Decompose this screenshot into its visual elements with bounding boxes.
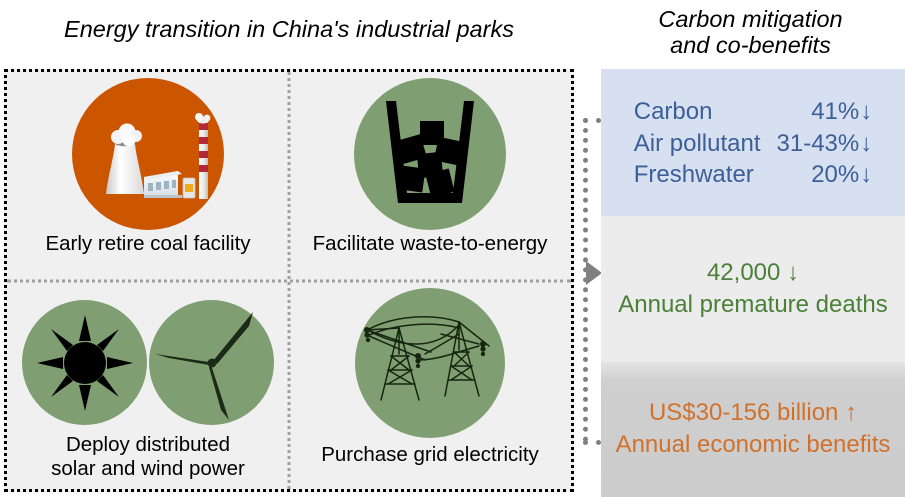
- health-benefit-headline: 42,000 ↓: [707, 258, 799, 289]
- benefit-stat-table: Carbon 41%↓ Air pollutant 31-43%↓ Freshw…: [634, 96, 872, 191]
- stat-row-carbon: Carbon 41%↓: [634, 96, 872, 128]
- stat-label-carbon: Carbon: [634, 96, 777, 128]
- quadrant-early-retire-coal[interactable]: Early retire coal facility: [7, 72, 289, 281]
- coal-power-plant-icon: [72, 78, 224, 230]
- quadrant-waste-to-energy[interactable]: Facilitate waste-to-energy: [289, 72, 571, 281]
- graphical-abstract: Energy transition in China's industrial …: [0, 0, 905, 497]
- economic-benefit-panel: US$30-156 billion ↑ Annual economic bene…: [601, 362, 905, 497]
- stat-label-air-pollutant: Air pollutant: [634, 128, 777, 160]
- health-benefit-panel: 42,000 ↓ Annual premature deaths: [601, 216, 905, 362]
- transmission-tower-icon: [355, 287, 505, 439]
- sun-icon: [22, 300, 147, 425]
- down-arrow-icon-air-pollutant: ↓: [859, 130, 872, 157]
- stat-value-air-pollutant: 31-43%↓: [777, 128, 873, 160]
- stat-label-freshwater: Freshwater: [634, 159, 777, 191]
- solar-wind-icon-group: [22, 287, 274, 439]
- down-arrow-icon-carbon: ↓: [859, 98, 872, 125]
- stat-number-carbon: 41%: [811, 98, 859, 125]
- left-section-title: Energy transition in China's industrial …: [4, 16, 574, 42]
- stat-row-freshwater: Freshwater 20%↓: [634, 159, 872, 191]
- health-benefit-subtitle: Annual premature deaths: [618, 290, 888, 321]
- carbon-mitigation-panel: Carbon 41%↓ Air pollutant 31-43%↓ Freshw…: [601, 69, 905, 216]
- right-section-title: Carbon mitigation and co-benefits: [596, 6, 905, 59]
- waste-bin-icon: [354, 78, 506, 230]
- connector-stub-bottom: [583, 440, 601, 445]
- down-arrow-icon-freshwater: ↓: [859, 161, 872, 188]
- quadrant-label-waste-to-energy: Facilitate waste-to-energy: [313, 232, 548, 256]
- quadrant-solar-wind[interactable]: Deploy distributed solar and wind power: [7, 281, 289, 490]
- connector-arrow-icon: [586, 261, 602, 285]
- stat-value-freshwater: 20%↓: [777, 159, 873, 191]
- economic-benefit-headline: US$30-156 billion ↑: [649, 398, 857, 429]
- stat-value-carbon: 41%↓: [777, 96, 873, 128]
- stat-number-freshwater: 20%: [811, 161, 859, 188]
- quadrant-label-solar-wind: Deploy distributed solar and wind power: [51, 433, 245, 481]
- energy-transition-grid: Early retire coal facility: [4, 69, 574, 492]
- quadrant-label-early-retire-coal: Early retire coal facility: [45, 232, 250, 256]
- wind-turbine-icon: [149, 300, 274, 425]
- quadrant-grid-electricity[interactable]: Purchase grid electricity: [289, 281, 571, 490]
- stat-row-air-pollutant: Air pollutant 31-43%↓: [634, 128, 872, 160]
- economic-benefit-subtitle: Annual economic benefits: [616, 430, 891, 461]
- quadrant-label-grid-electricity: Purchase grid electricity: [321, 443, 539, 467]
- stat-number-air-pollutant: 31-43%: [777, 130, 860, 157]
